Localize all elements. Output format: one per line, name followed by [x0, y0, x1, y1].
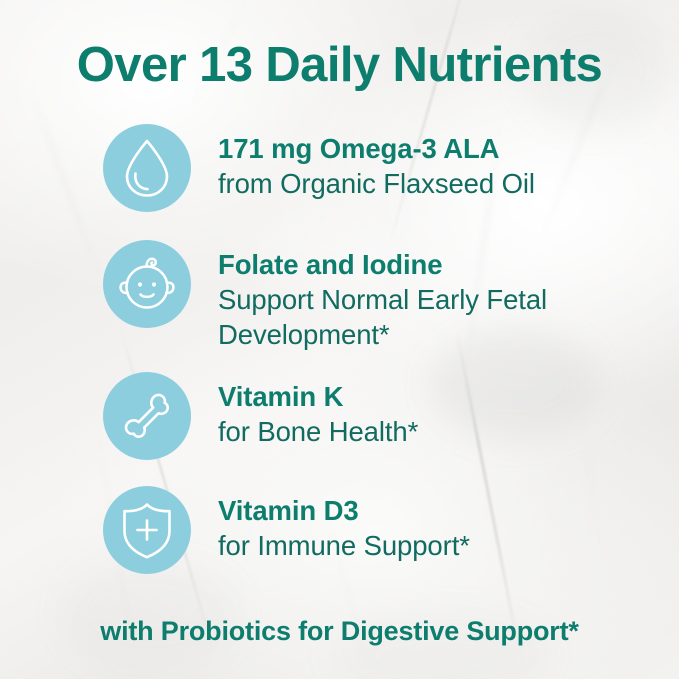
benefit-subtitle: from Organic Flaxseed Oil — [218, 166, 535, 201]
benefit-item-vitamin-d3: Vitamin D3 for Immune Support* — [103, 486, 643, 574]
page-title: Over 13 Daily Nutrients — [0, 36, 679, 94]
benefit-text: Vitamin D3 for Immune Support* — [191, 486, 470, 563]
benefit-subtitle: for Bone Health* — [218, 414, 418, 449]
benefit-subtitle-line-1: Support Normal Early Fetal — [218, 282, 547, 317]
benefit-text: Folate and Iodine Support Normal Early F… — [191, 240, 547, 352]
nutrient-infographic: Over 13 Daily Nutrients 171 mg Omega-3 A… — [0, 0, 679, 679]
footer-note: with Probiotics for Digestive Support* — [0, 614, 679, 648]
baby-face-icon-badge — [103, 240, 191, 328]
benefit-subtitle-line-1: from Organic Flaxseed Oil — [218, 168, 535, 199]
benefit-title: 171 mg Omega-3 ALA — [218, 131, 535, 166]
benefit-title: Vitamin D3 — [218, 493, 470, 528]
benefit-subtitle: for Immune Support* — [218, 528, 470, 563]
baby-face-icon — [115, 253, 179, 315]
benefit-subtitle-line-1: for Bone Health* — [218, 416, 418, 447]
benefit-text: Vitamin K for Bone Health* — [191, 372, 418, 449]
droplet-icon-badge — [103, 124, 191, 212]
shield-plus-icon-badge — [103, 486, 191, 574]
shield-plus-icon — [118, 499, 176, 561]
content-layer: Over 13 Daily Nutrients 171 mg Omega-3 A… — [0, 0, 679, 679]
droplet-icon — [119, 137, 175, 199]
bone-icon-badge — [103, 372, 191, 460]
benefit-item-omega-3: 171 mg Omega-3 ALA from Organic Flaxseed… — [103, 124, 643, 212]
benefit-title: Folate and Iodine — [218, 247, 547, 282]
benefit-subtitle-line-1: for Immune Support* — [218, 530, 470, 561]
benefit-title: Vitamin K — [218, 379, 418, 414]
benefit-item-vitamin-k: Vitamin K for Bone Health* — [103, 372, 643, 460]
benefit-subtitle-line-2: Development* — [218, 317, 547, 352]
bone-icon — [116, 385, 178, 447]
benefits-list: 171 mg Omega-3 ALA from Organic Flaxseed… — [103, 124, 643, 574]
benefit-subtitle: Support Normal Early Fetal Development* — [218, 282, 547, 352]
benefit-item-folate-iodine: Folate and Iodine Support Normal Early F… — [103, 240, 643, 352]
benefit-text: 171 mg Omega-3 ALA from Organic Flaxseed… — [191, 124, 535, 201]
